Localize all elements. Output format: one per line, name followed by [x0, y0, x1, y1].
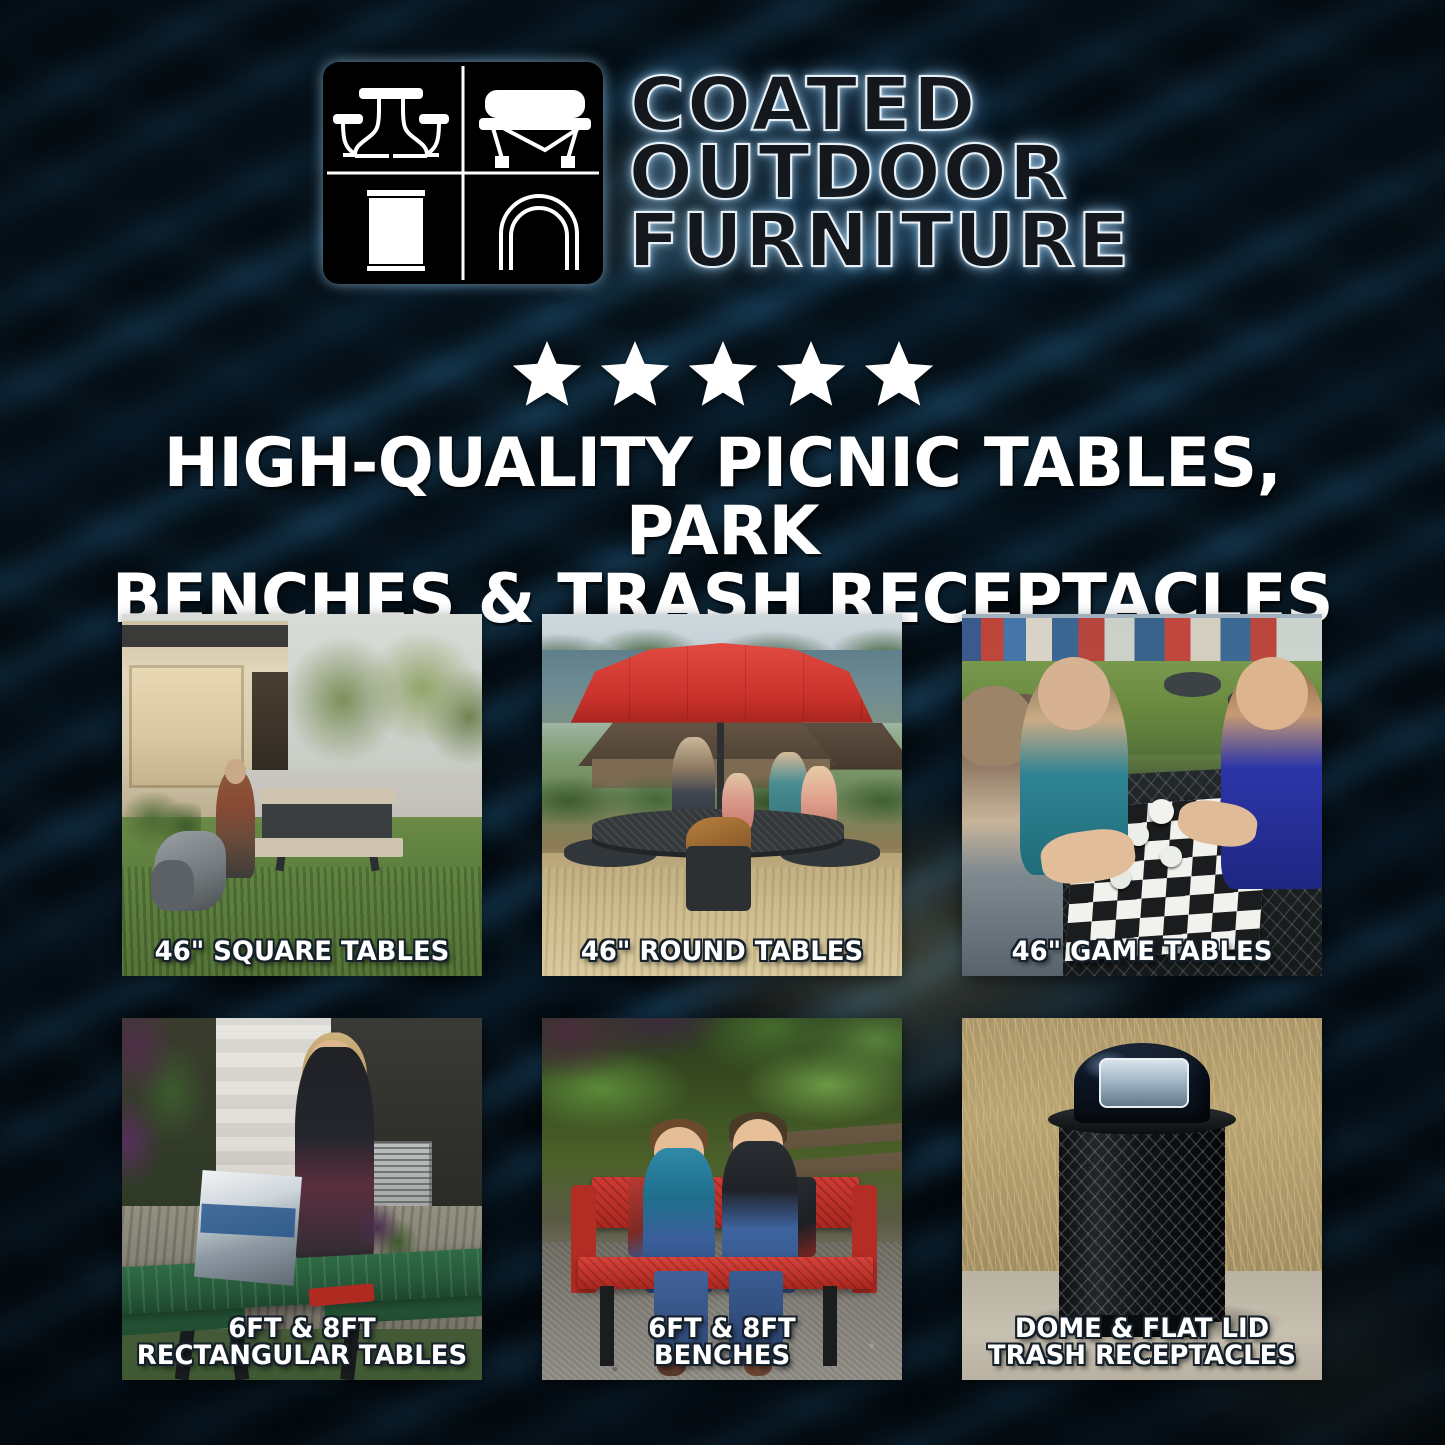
star-icon [774, 338, 848, 410]
product-caption: 46" ROUND TABLES [549, 938, 895, 966]
product-tile-game-tables[interactable]: 46" GAME TABLES [962, 614, 1322, 976]
caption-line: RECTANGULAR TABLES [129, 1342, 475, 1370]
caption-line: 46" ROUND TABLES [549, 938, 895, 966]
product-caption: 6FT & 8FT BENCHES [549, 1315, 895, 1370]
product-caption: 46" SQUARE TABLES [129, 938, 475, 966]
caption-line: BENCHES [549, 1342, 895, 1370]
product-tile-round-tables[interactable]: 46" ROUND TABLES [542, 614, 902, 976]
brand-word-2: OUTDOOR [629, 139, 1069, 207]
brand-word-1: COATED [629, 71, 977, 139]
product-grid: 46" SQUARE TABLES [122, 614, 1324, 1380]
promo-banner: COATED OUTDOOR FURNITURE HIGH-QUALITY PI… [0, 0, 1445, 1445]
product-caption: 46" GAME TABLES [969, 938, 1315, 966]
star-icon [598, 338, 672, 410]
brand-logo: COATED OUTDOOR FURNITURE [0, 58, 1445, 288]
square-tables-photo [122, 614, 482, 976]
product-caption: DOME & FLAT LID TRASH RECEPTACLES [969, 1315, 1315, 1370]
star-icon [510, 338, 584, 410]
brand-word-3: FURNITURE [628, 207, 1131, 275]
caption-line: 6FT & 8FT [549, 1315, 895, 1343]
product-tile-square-tables[interactable]: 46" SQUARE TABLES [122, 614, 482, 976]
brand-wordmark: COATED OUTDOOR FURNITURE [633, 71, 1126, 275]
caption-line: 46" SQUARE TABLES [129, 938, 475, 966]
page-title: HIGH-QUALITY PICNIC TABLES, PARK BENCHES… [80, 430, 1365, 634]
star-icon [686, 338, 760, 410]
product-caption: 6FT & 8FT RECTANGULAR TABLES [129, 1315, 475, 1370]
product-tile-benches[interactable]: 6FT & 8FT BENCHES [542, 1018, 902, 1380]
round-tables-photo [542, 614, 902, 976]
caption-line: DOME & FLAT LID [969, 1315, 1315, 1343]
product-tile-rectangular-tables[interactable]: 6FT & 8FT RECTANGULAR TABLES [122, 1018, 482, 1380]
star-icon [862, 338, 936, 410]
headline-line-1: HIGH-QUALITY PICNIC TABLES, PARK [80, 430, 1365, 566]
caption-line: 46" GAME TABLES [969, 938, 1315, 966]
game-tables-photo [962, 614, 1322, 976]
rating-stars [0, 338, 1445, 410]
caption-line: TRASH RECEPTACLES [969, 1342, 1315, 1370]
product-tile-trash-receptacles[interactable]: DOME & FLAT LID TRASH RECEPTACLES [962, 1018, 1322, 1380]
caption-line: 6FT & 8FT [129, 1315, 475, 1343]
four-panel-outdoor-furniture-icon [319, 58, 607, 288]
